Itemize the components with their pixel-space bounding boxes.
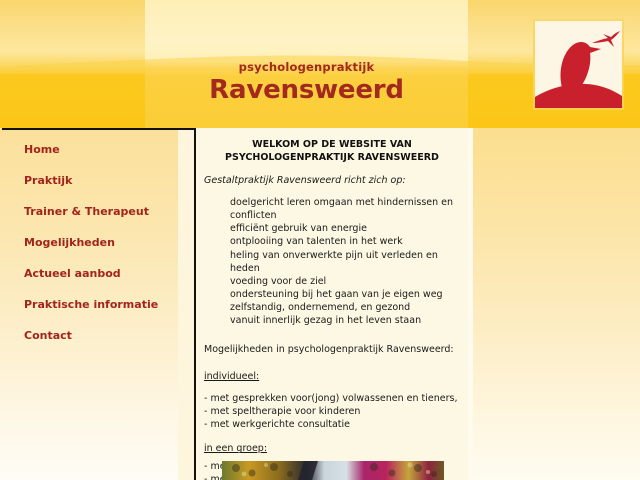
sidebar-item-contact[interactable]: Contact [24, 330, 194, 341]
group-item-list: - met gesprekken voor(jong) volwassenen … [204, 392, 460, 431]
focus-list-item: ondersteuning bij het gaan van je eigen … [230, 288, 460, 301]
group-individueel: individueel: - met gesprekken voor(jong)… [204, 370, 460, 432]
autumn-foliage-photo [222, 461, 444, 480]
sidebar-item-praktische-informatie[interactable]: Praktische informatie [24, 299, 194, 310]
mogelijkheden-intro: Mogelijkheden in psychologenpraktijk Rav… [204, 343, 460, 356]
photo-image [222, 461, 444, 480]
focus-list-item: doelgericht leren omgaan met hindernisse… [230, 196, 460, 209]
welcome-heading: WELKOM OP DE WEBSITE VAN PSYCHOLOGENPRAK… [204, 138, 460, 165]
sidebar-item-mogelijkheden[interactable]: Mogelijkheden [24, 237, 194, 248]
sidebar-navigation: Home Praktijk Trainer & Therapeut Mogeli… [2, 128, 196, 480]
raven-logo-icon [535, 21, 622, 108]
raven-on-mound-logo[interactable] [533, 19, 624, 110]
group-list-item: - met speltherapie voor kinderen [204, 405, 460, 418]
focus-list: doelgericht leren omgaan met hindernisse… [230, 196, 460, 327]
sidebar-item-home[interactable]: Home [24, 144, 194, 155]
header-kicker: psychologenpraktijk [145, 62, 468, 74]
group-list-item: - met werkgerichte consultatie [204, 418, 460, 431]
group-heading: individueel: [204, 370, 460, 383]
group-heading: in een groep: [204, 442, 460, 455]
sidebar-item-trainer-therapeut[interactable]: Trainer & Therapeut [24, 206, 194, 217]
header-brand-title: Ravensweerd [145, 77, 468, 103]
focus-list-item: zelfstandig, ondernemend, en gezond [230, 301, 460, 314]
sidebar-item-actueel-aanbod[interactable]: Actueel aanbod [24, 268, 194, 279]
intro-text: Gestaltpraktijk Ravensweerd richt zich o… [204, 174, 460, 187]
welcome-heading-line2: PSYCHOLOGENPRAKTIJK RAVENSWEERD [204, 151, 460, 164]
focus-list-item: conflicten [230, 209, 460, 222]
focus-list-item: vanuit innerlijk gezag in het leven staa… [230, 314, 460, 327]
site-header: psychologenpraktijk Ravensweerd [0, 0, 640, 128]
focus-list-item: heling van onverwerkte pijn uit verleden… [230, 249, 460, 275]
right-column-background [473, 128, 640, 480]
focus-list-item: voeding voor de ziel [230, 275, 460, 288]
main-content: WELKOM OP DE WEBSITE VAN PSYCHOLOGENPRAK… [196, 128, 468, 480]
focus-list-item: efficiënt gebruik van energie [230, 222, 460, 235]
group-list-item: - met gesprekken voor(jong) volwassenen … [204, 392, 460, 405]
welcome-heading-line1: WELKOM OP DE WEBSITE VAN [204, 138, 460, 151]
focus-list-item: ontplooiing van talenten in het werk [230, 235, 460, 248]
header-title-block: psychologenpraktijk Ravensweerd [145, 62, 468, 103]
sidebar-item-praktijk[interactable]: Praktijk [24, 175, 194, 186]
